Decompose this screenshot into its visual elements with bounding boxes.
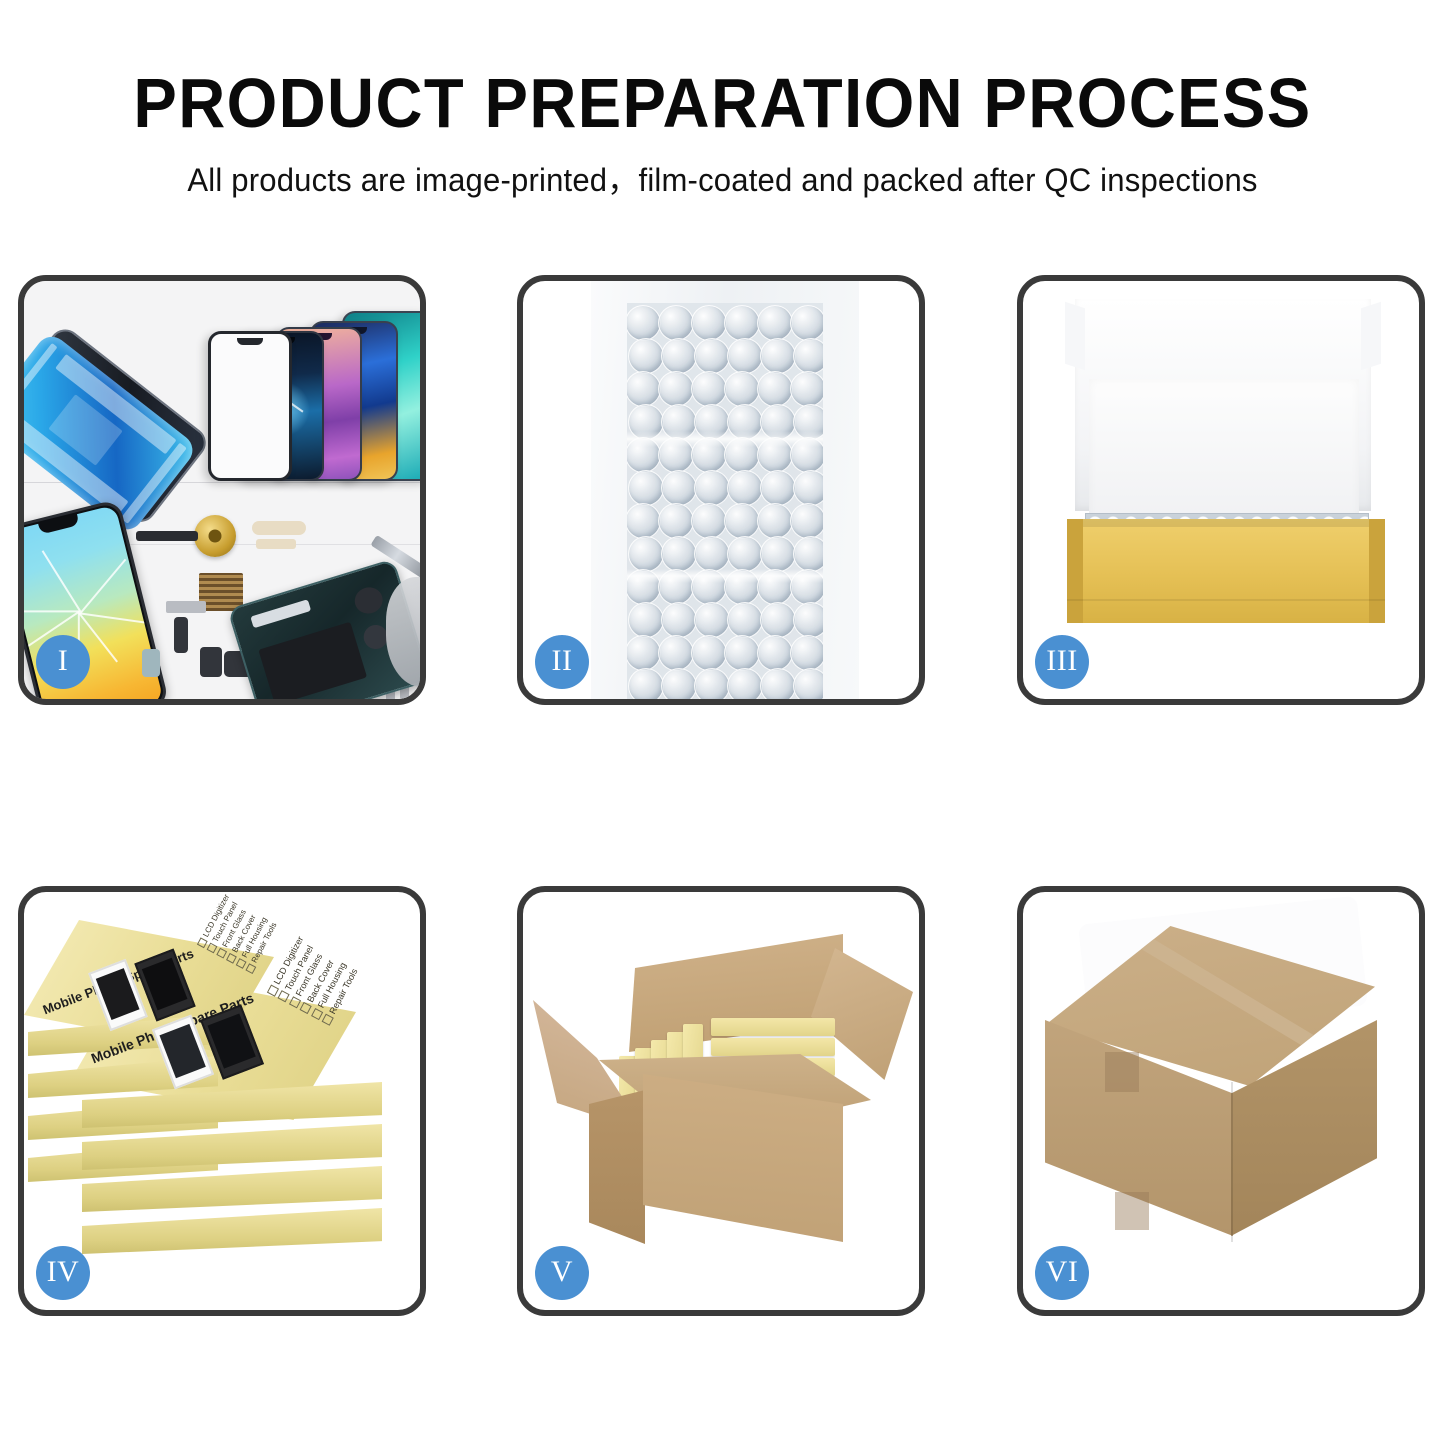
bubble bbox=[628, 338, 664, 374]
step-badge-3: III bbox=[1035, 635, 1089, 689]
bubble bbox=[793, 602, 823, 638]
step-badge-5: V bbox=[535, 1246, 589, 1300]
step-badge-2: II bbox=[535, 635, 589, 689]
bubble bbox=[724, 305, 760, 341]
bubble bbox=[727, 536, 763, 572]
bubble bbox=[661, 668, 697, 699]
bubble bbox=[694, 536, 730, 572]
flex-cable-icon-2 bbox=[256, 539, 296, 549]
retail-box-edge-right-4 bbox=[82, 1208, 382, 1254]
bubble bbox=[694, 602, 730, 638]
mailer-box-side-left bbox=[1067, 519, 1083, 623]
bubble bbox=[760, 536, 796, 572]
flex-cable-icon-1 bbox=[252, 521, 306, 535]
box-crease-line bbox=[1067, 599, 1385, 601]
bubble bbox=[661, 536, 697, 572]
connector-icon-1 bbox=[166, 601, 206, 613]
carton-face-left bbox=[589, 1090, 645, 1244]
bubble bbox=[691, 371, 727, 407]
bubble-wrap-pouch bbox=[523, 281, 919, 699]
bubble bbox=[790, 371, 823, 407]
bubble bbox=[658, 635, 694, 671]
bubble bbox=[724, 503, 760, 539]
bubble bbox=[790, 635, 823, 671]
bubble bbox=[793, 338, 823, 374]
step-panel-2: II bbox=[517, 275, 925, 705]
bubble bbox=[691, 305, 727, 341]
bubble bbox=[793, 668, 823, 699]
step-panel-3: III bbox=[1017, 275, 1425, 705]
bubble bbox=[694, 338, 730, 374]
mailer-box-side-right bbox=[1369, 519, 1385, 623]
bubble bbox=[627, 305, 661, 341]
bubble bbox=[757, 371, 793, 407]
bubble bbox=[658, 503, 694, 539]
flex-cable-icon-3 bbox=[174, 617, 188, 653]
bubble bbox=[760, 338, 796, 374]
step-badge-1: I bbox=[36, 635, 90, 689]
step-panel-5: V bbox=[517, 886, 925, 1316]
phone-fan-group bbox=[164, 289, 420, 481]
step-badge-6: VI bbox=[1035, 1246, 1089, 1300]
bubble bbox=[724, 635, 760, 671]
earpiece-mesh-icon bbox=[136, 531, 198, 541]
bubble bbox=[724, 371, 760, 407]
bubble bbox=[727, 470, 763, 506]
bubble bbox=[793, 536, 823, 572]
bubble bbox=[661, 602, 697, 638]
carton-vertical-seam bbox=[1231, 1082, 1233, 1242]
bubble bbox=[793, 470, 823, 506]
bubble bbox=[627, 635, 661, 671]
wrapped-product bbox=[627, 303, 823, 699]
page-subtitle: All products are image-printed，film-coat… bbox=[22, 155, 1424, 201]
speaker-module-icon bbox=[194, 515, 236, 557]
bubble bbox=[661, 338, 697, 374]
step-panel-4: Mobile Phone Spare Parts Mobile Phone Sp… bbox=[18, 886, 426, 1316]
bubble bbox=[691, 503, 727, 539]
open-mailer-box-with-wrapped-item bbox=[1023, 281, 1419, 699]
step-panel-1: I bbox=[18, 275, 426, 705]
bubble bbox=[628, 470, 664, 506]
yellow-box-in-carton-right-2 bbox=[711, 1038, 835, 1056]
bubble bbox=[628, 668, 664, 699]
bubble bbox=[694, 668, 730, 699]
bubble bbox=[757, 503, 793, 539]
mailer-box-tray bbox=[1067, 519, 1385, 623]
stack-of-retail-boxes: Mobile Phone Spare Parts Mobile Phone Sp… bbox=[24, 892, 420, 1310]
bubble bbox=[727, 338, 763, 374]
bubble bbox=[727, 602, 763, 638]
bubble bbox=[757, 635, 793, 671]
page-title: PRODUCT PREPARATION PROCESS bbox=[51, 68, 1395, 138]
bubble bbox=[727, 668, 763, 699]
bubble bbox=[694, 470, 730, 506]
bubble bbox=[627, 371, 661, 407]
tape-tab-upper bbox=[1105, 1052, 1139, 1092]
bubble bbox=[627, 503, 661, 539]
bubble bbox=[628, 536, 664, 572]
open-carton-filled-with-boxes bbox=[523, 892, 919, 1310]
step-panel-6: VI bbox=[1017, 886, 1425, 1316]
tape-tab-lower bbox=[1115, 1192, 1149, 1230]
step-badge-4: IV bbox=[36, 1246, 90, 1300]
bubble bbox=[760, 470, 796, 506]
bubble bbox=[790, 503, 823, 539]
bubble bbox=[757, 305, 793, 341]
sim-tray-icon bbox=[142, 649, 160, 677]
bubble bbox=[760, 602, 796, 638]
front-glass-panel-icon bbox=[208, 331, 292, 481]
film-highlight-2 bbox=[627, 569, 823, 583]
bubble bbox=[790, 305, 823, 341]
film-highlight-1 bbox=[627, 431, 823, 447]
bubble bbox=[658, 305, 694, 341]
bubble bbox=[691, 635, 727, 671]
bubble bbox=[661, 470, 697, 506]
bubble bbox=[658, 371, 694, 407]
sealed-shipping-carton bbox=[1023, 892, 1419, 1310]
yellow-box-in-carton-right-1 bbox=[711, 1018, 835, 1036]
foam-liner bbox=[1089, 379, 1359, 525]
bubble-grid bbox=[627, 303, 823, 699]
vibrator-motor-icon bbox=[200, 647, 222, 677]
bubble bbox=[628, 602, 664, 638]
phone-spare-parts-collage bbox=[24, 281, 420, 699]
bubble bbox=[760, 668, 796, 699]
